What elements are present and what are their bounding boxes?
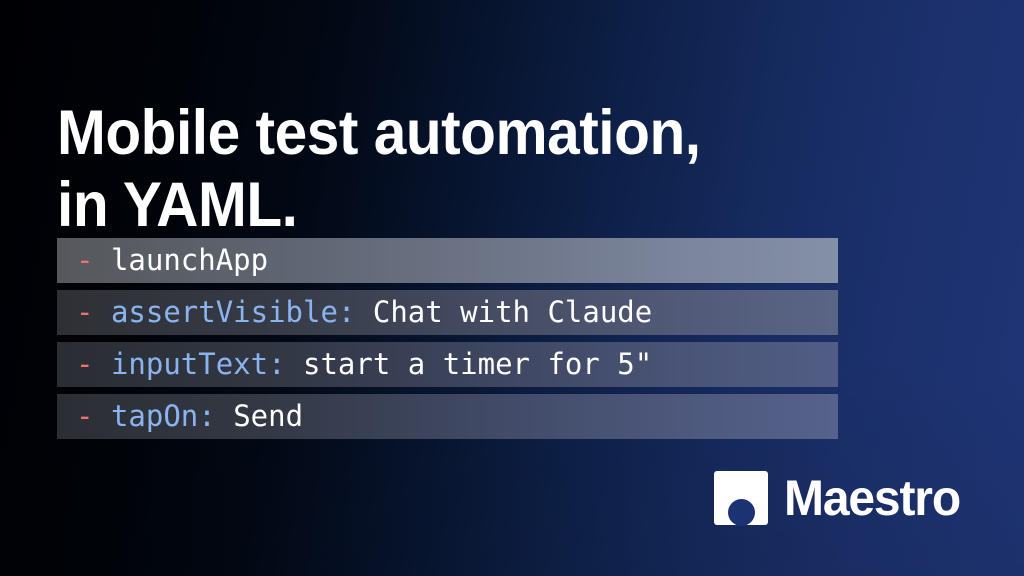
yaml-key-token: launchApp [111, 238, 268, 283]
code-row: - launchApp [57, 238, 838, 283]
yaml-dash-token: - [76, 290, 93, 335]
yaml-value-token: Chat with Claude [373, 290, 652, 335]
code-row: - tapOn : Send [57, 394, 838, 439]
yaml-space [93, 290, 110, 335]
yaml-value-token: Send [233, 394, 303, 439]
yaml-value-token: start a timer for 5" [303, 342, 652, 387]
yaml-separator-token: : [268, 342, 285, 387]
code-row: - assertVisible : Chat with Claude [57, 290, 838, 335]
yaml-space [93, 238, 110, 283]
code-row: - inputText : start a timer for 5" [57, 342, 838, 387]
yaml-code-block: - launchApp - assertVisible : Chat with … [57, 238, 838, 439]
yaml-separator-token: : [338, 290, 355, 335]
yaml-space [216, 394, 233, 439]
yaml-dash-token: - [76, 342, 93, 387]
maestro-wordmark: Maestro [784, 471, 960, 525]
maestro-logo: Maestro [714, 471, 967, 525]
maestro-square-dot-icon [714, 471, 768, 525]
yaml-dash-token: - [76, 394, 93, 439]
headline-line-1: Mobile test automation, [57, 97, 875, 169]
promo-banner: Mobile test automation, in YAML. - launc… [0, 0, 1024, 576]
yaml-space [355, 290, 372, 335]
yaml-key-token: inputText [111, 342, 268, 387]
yaml-key-token: assertVisible [111, 290, 338, 335]
yaml-separator-token: : [198, 394, 215, 439]
yaml-dash-token: - [76, 238, 93, 283]
headline-line-2: in YAML. [57, 169, 875, 241]
logo-circle-shape [728, 499, 755, 526]
yaml-key-token: tapOn [111, 394, 198, 439]
yaml-space [93, 342, 110, 387]
headline: Mobile test automation, in YAML. [57, 97, 875, 241]
yaml-space [286, 342, 303, 387]
banner-content: Mobile test automation, in YAML. - launc… [0, 0, 1024, 576]
yaml-space [93, 394, 110, 439]
